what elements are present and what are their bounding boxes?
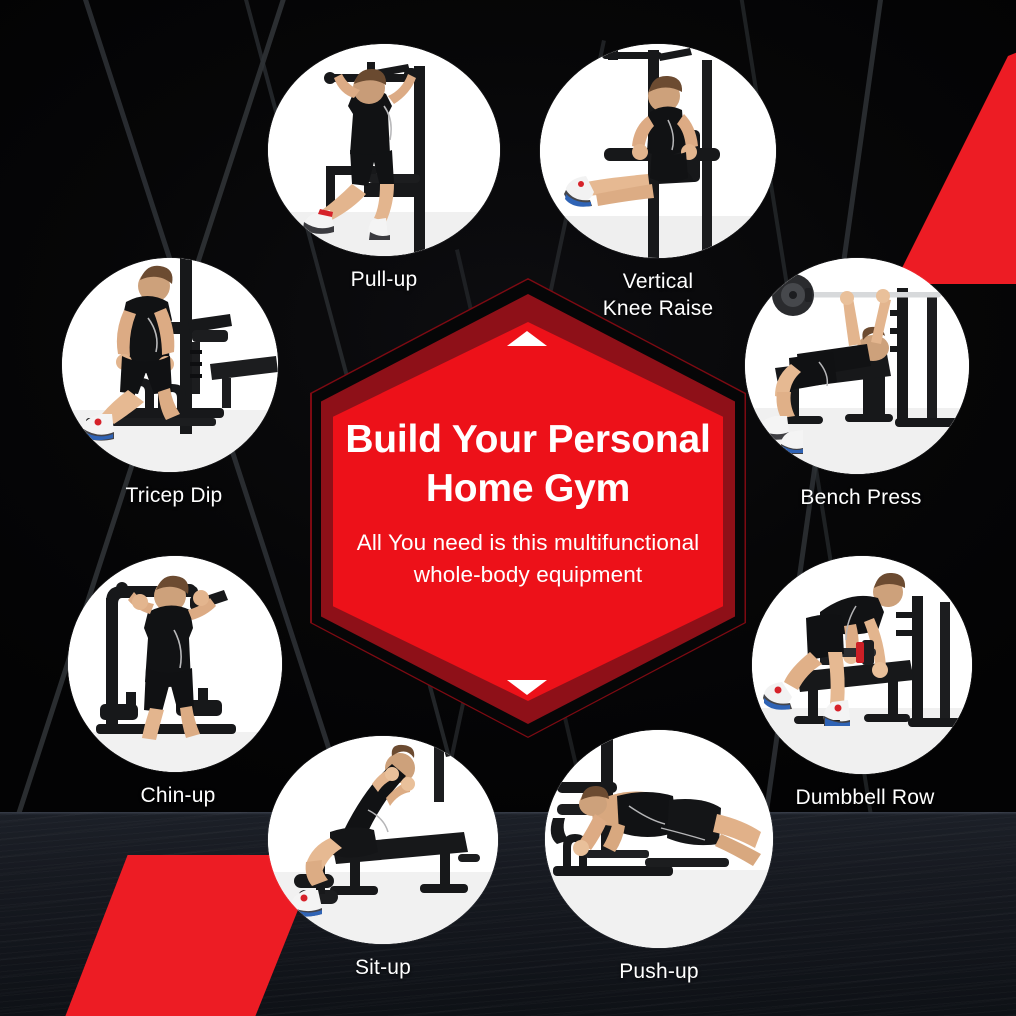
exercise-node-sit-up[interactable]: Sit-up (268, 736, 498, 981)
exercise-label-tricep-dip: Tricep Dip (62, 482, 286, 509)
push-up-illustration (545, 730, 773, 948)
exercise-photo-chin-up[interactable] (68, 556, 282, 772)
vertical-knee-raise-illustration (540, 44, 776, 258)
exercise-photo-pull-up[interactable] (268, 44, 500, 256)
exercise-photo-push-up[interactable] (545, 730, 773, 948)
headline-line-2: Home Gym (426, 467, 630, 510)
exercise-node-chin-up[interactable]: Chin-up (68, 556, 288, 809)
exercise-label-vertical-knee-raise: VerticalKnee Raise (540, 268, 776, 322)
exercise-label-chin-up: Chin-up (68, 782, 288, 809)
headline-block: Build Your Personal Home Gym All You nee… (293, 415, 763, 591)
headline-line-1: Build Your Personal (345, 418, 710, 461)
exercise-node-dumbbell-row[interactable]: Dumbbell Row (752, 556, 978, 811)
triangle-down-icon (507, 680, 547, 695)
exercise-label-dumbbell-row: Dumbbell Row (752, 784, 978, 811)
infographic-canvas: Build Your Personal Home Gym All You nee… (0, 0, 1016, 1016)
exercise-photo-dumbbell-row[interactable] (752, 556, 972, 774)
chin-up-illustration (68, 556, 282, 772)
triangle-up-icon (507, 331, 547, 346)
exercise-label-sit-up: Sit-up (268, 954, 498, 981)
exercise-node-bench-press[interactable]: Bench Press (745, 258, 977, 511)
sit-up-illustration (268, 736, 498, 944)
exercise-label-push-up: Push-up (545, 958, 773, 985)
exercise-node-push-up[interactable]: Push-up (545, 730, 773, 985)
page-title: Build Your Personal Home Gym (293, 415, 763, 513)
exercise-photo-bench-press[interactable] (745, 258, 969, 474)
tricep-dip-illustration (62, 258, 278, 472)
exercise-node-pull-up[interactable]: Pull-up (268, 44, 500, 293)
subheadline-line-1: All You need is this multifunctional (357, 530, 700, 555)
exercise-photo-sit-up[interactable] (268, 736, 498, 944)
exercise-photo-tricep-dip[interactable] (62, 258, 278, 472)
dumbbell-row-illustration (752, 556, 972, 774)
bench-press-illustration (745, 258, 969, 474)
subheadline: All You need is this multifunctional who… (293, 527, 763, 591)
exercise-photo-vertical-knee-raise[interactable] (540, 44, 776, 258)
subheadline-line-2: whole-body equipment (414, 562, 642, 587)
pull-up-illustration (268, 44, 500, 256)
exercise-node-vertical-knee-raise[interactable]: VerticalKnee Raise (540, 44, 776, 322)
exercise-label-bench-press: Bench Press (745, 484, 977, 511)
exercise-label-pull-up: Pull-up (268, 266, 500, 293)
exercise-node-tricep-dip[interactable]: Tricep Dip (62, 258, 286, 509)
